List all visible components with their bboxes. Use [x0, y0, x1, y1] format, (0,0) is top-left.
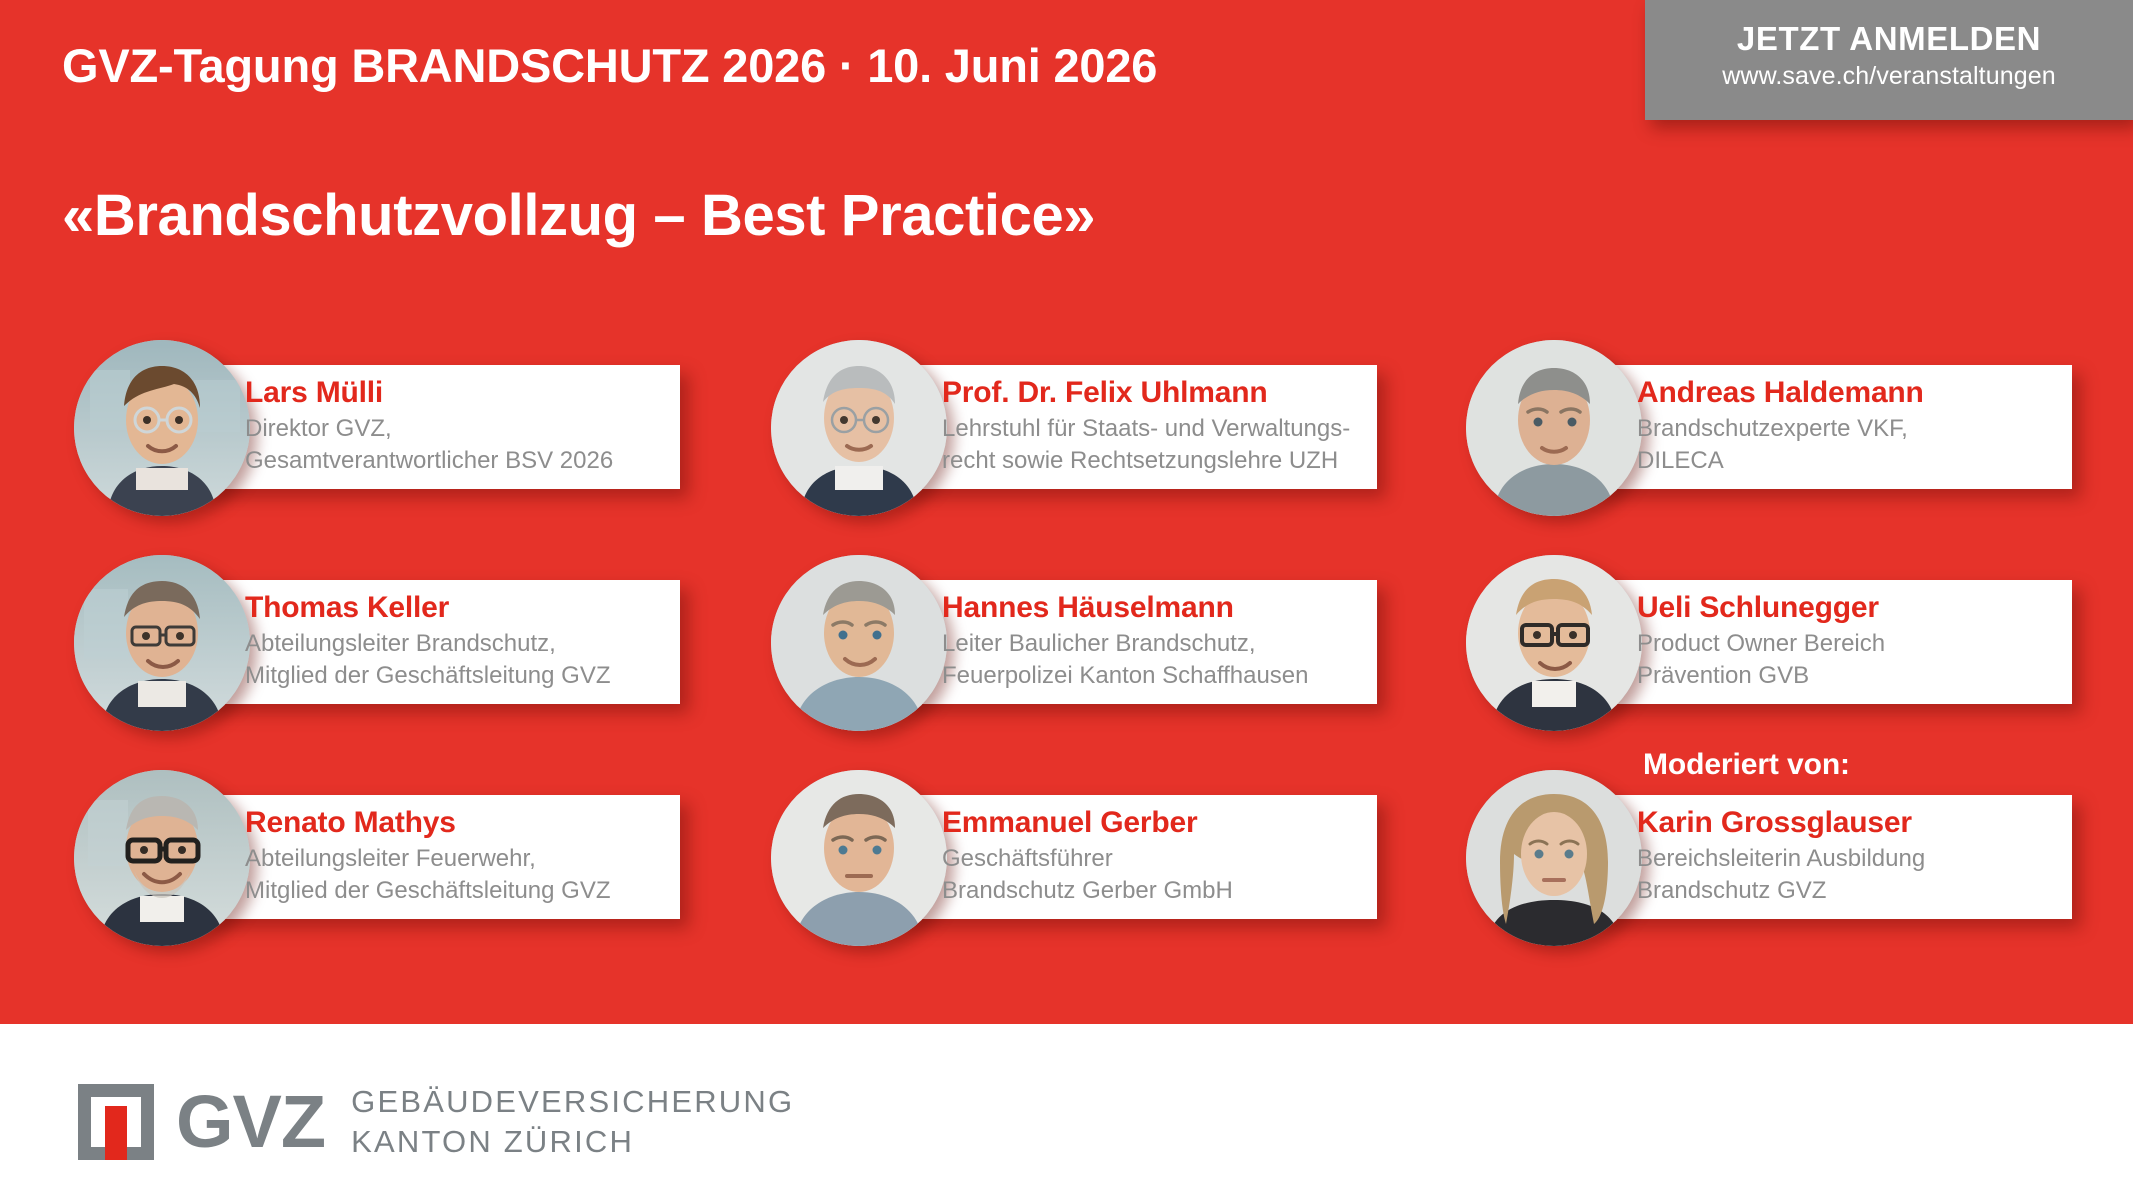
- speaker-card-text: Hannes Häuselmann Leiter Baulicher Brand…: [942, 591, 1372, 692]
- speaker-card[interactable]: Thomas Keller Abteilungsleiter Brandschu…: [60, 555, 680, 731]
- speaker-role-line1: Direktor GVZ,: [245, 413, 675, 445]
- gvz-logo-red-bar: [105, 1106, 127, 1160]
- speaker-card-text: Prof. Dr. Felix Uhlmann Lehrstuhl für St…: [942, 376, 1372, 477]
- speaker-name: Karin Grossglauser: [1637, 806, 2067, 839]
- speaker-role-line1: Lehrstuhl für Staats- und Verwaltungs-: [942, 413, 1372, 445]
- speaker-name: Thomas Keller: [245, 591, 675, 624]
- speaker-role-line1: Product Owner Bereich: [1637, 628, 2067, 660]
- speaker-name: Emmanuel Gerber: [942, 806, 1372, 839]
- footer: GVZ GEBÄUDEVERSICHERUNG KANTON ZÜRICH: [0, 1024, 2133, 1200]
- speaker-role-line2: Feuerpolizei Kanton Schaffhausen: [942, 660, 1372, 692]
- avatar: [1466, 770, 1642, 946]
- speaker-name: Ueli Schlunegger: [1637, 591, 2067, 624]
- gvz-logo: GVZ GEBÄUDEVERSICHERUNG KANTON ZÜRICH: [78, 1082, 794, 1161]
- speaker-card[interactable]: Karin Grossglauser Bereichsleiterin Ausb…: [1452, 770, 2072, 946]
- speaker-grid: Lars Mülli Direktor GVZ, Gesamtverantwor…: [0, 0, 2133, 1024]
- speaker-role-line2: Mitglied der Geschäftsleitung GVZ: [245, 875, 675, 907]
- speaker-role-line2: Prävention GVB: [1637, 660, 2067, 692]
- speaker-name: Andreas Haldemann: [1637, 376, 2067, 409]
- speaker-card-text: Karin Grossglauser Bereichsleiterin Ausb…: [1637, 806, 2067, 907]
- avatar: [1466, 555, 1642, 731]
- avatar: [771, 770, 947, 946]
- speaker-card-text: Andreas Haldemann Brandschutzexperte VKF…: [1637, 376, 2067, 477]
- speaker-card-text: Ueli Schlunegger Product Owner Bereich P…: [1637, 591, 2067, 692]
- speaker-role-line2: Brandschutz GVZ: [1637, 875, 2067, 907]
- speaker-role-line1: Abteilungsleiter Brandschutz,: [245, 628, 675, 660]
- speaker-name: Prof. Dr. Felix Uhlmann: [942, 376, 1372, 409]
- speaker-card-text: Thomas Keller Abteilungsleiter Brandschu…: [245, 591, 675, 692]
- gvz-subtitle-line1: GEBÄUDEVERSICHERUNG: [351, 1082, 794, 1122]
- avatar: [74, 555, 250, 731]
- speaker-name: Lars Mülli: [245, 376, 675, 409]
- speaker-card[interactable]: Lars Mülli Direktor GVZ, Gesamtverantwor…: [60, 340, 680, 516]
- speaker-card[interactable]: Andreas Haldemann Brandschutzexperte VKF…: [1452, 340, 2072, 516]
- avatar: [1466, 340, 1642, 516]
- avatar: [771, 555, 947, 731]
- speaker-role-line2: Brandschutz Gerber GmbH: [942, 875, 1372, 907]
- speaker-name: Hannes Häuselmann: [942, 591, 1372, 624]
- avatar: [771, 340, 947, 516]
- gvz-logo-mark-icon: [78, 1084, 154, 1160]
- speaker-card-text: Emmanuel Gerber Geschäftsführer Brandsch…: [942, 806, 1372, 907]
- speaker-role-line1: Abteilungsleiter Feuerwehr,: [245, 843, 675, 875]
- speaker-card[interactable]: Renato Mathys Abteilungsleiter Feuerwehr…: [60, 770, 680, 946]
- speaker-role-line1: Leiter Baulicher Brandschutz,: [942, 628, 1372, 660]
- gvz-subtitle-line2: KANTON ZÜRICH: [351, 1122, 794, 1162]
- speaker-role-line1: Geschäftsführer: [942, 843, 1372, 875]
- speaker-name: Renato Mathys: [245, 806, 675, 839]
- speaker-card[interactable]: Emmanuel Gerber Geschäftsführer Brandsch…: [757, 770, 1377, 946]
- speaker-role-line1: Bereichsleiterin Ausbildung: [1637, 843, 2067, 875]
- avatar: [74, 340, 250, 516]
- gvz-wordmark: GVZ: [176, 1091, 325, 1153]
- speaker-role-line2: Gesamtverantwortlicher BSV 2026: [245, 445, 675, 477]
- speaker-card[interactable]: Prof. Dr. Felix Uhlmann Lehrstuhl für St…: [757, 340, 1377, 516]
- speaker-card-text: Renato Mathys Abteilungsleiter Feuerwehr…: [245, 806, 675, 907]
- gvz-subtitle: GEBÄUDEVERSICHERUNG KANTON ZÜRICH: [351, 1082, 794, 1161]
- speaker-card-text: Lars Mülli Direktor GVZ, Gesamtverantwor…: [245, 376, 675, 477]
- speaker-role-line1: Brandschutzexperte VKF,: [1637, 413, 2067, 445]
- speaker-role-line2: DILECA: [1637, 445, 2067, 477]
- speaker-role-line2: Mitglied der Geschäftsleitung GVZ: [245, 660, 675, 692]
- speaker-card[interactable]: Hannes Häuselmann Leiter Baulicher Brand…: [757, 555, 1377, 731]
- avatar: [74, 770, 250, 946]
- speaker-role-line2: recht sowie Rechtsetzungslehre UZH: [942, 445, 1372, 477]
- speaker-card[interactable]: Ueli Schlunegger Product Owner Bereich P…: [1452, 555, 2072, 731]
